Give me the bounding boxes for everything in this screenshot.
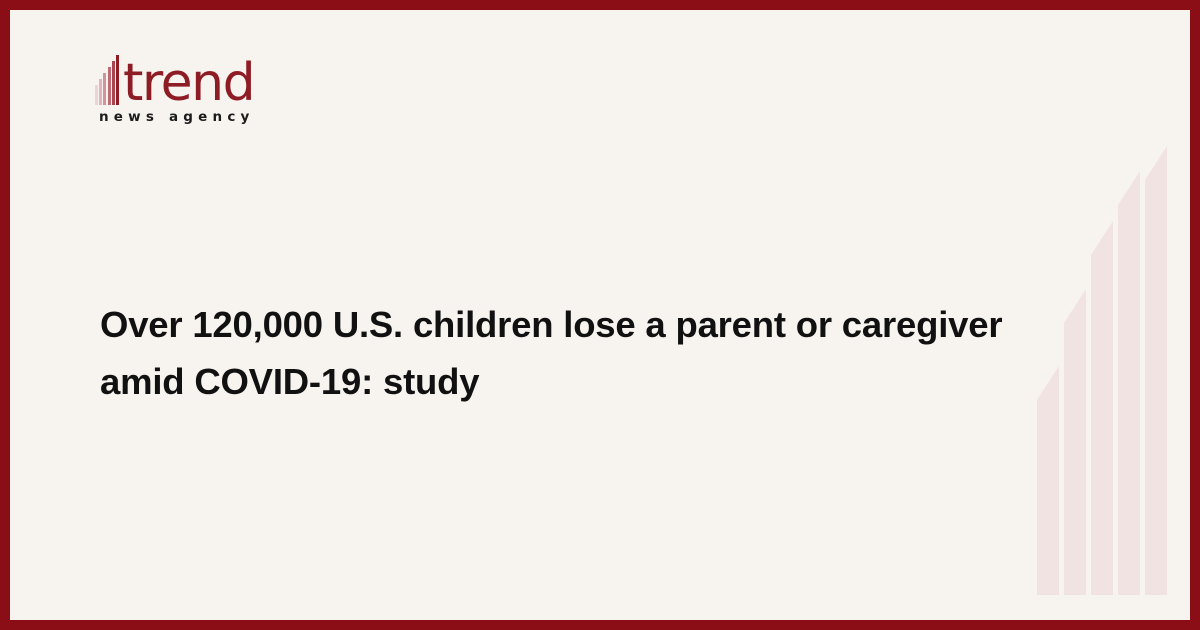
social-share-card: trend news agency Over 120,000 U.S. chil… xyxy=(0,0,1200,630)
brand-logo[interactable]: trend news agency xyxy=(95,45,355,125)
trend-bars-watermark xyxy=(1037,10,1172,595)
trend-bars-mark-icon xyxy=(95,53,121,105)
page-title: Over 120,000 U.S. children lose a parent… xyxy=(100,296,1050,410)
logo-row: trend xyxy=(95,45,355,105)
logo-wordmark: trend xyxy=(123,57,254,109)
card-canvas: trend news agency Over 120,000 U.S. chil… xyxy=(10,10,1190,620)
